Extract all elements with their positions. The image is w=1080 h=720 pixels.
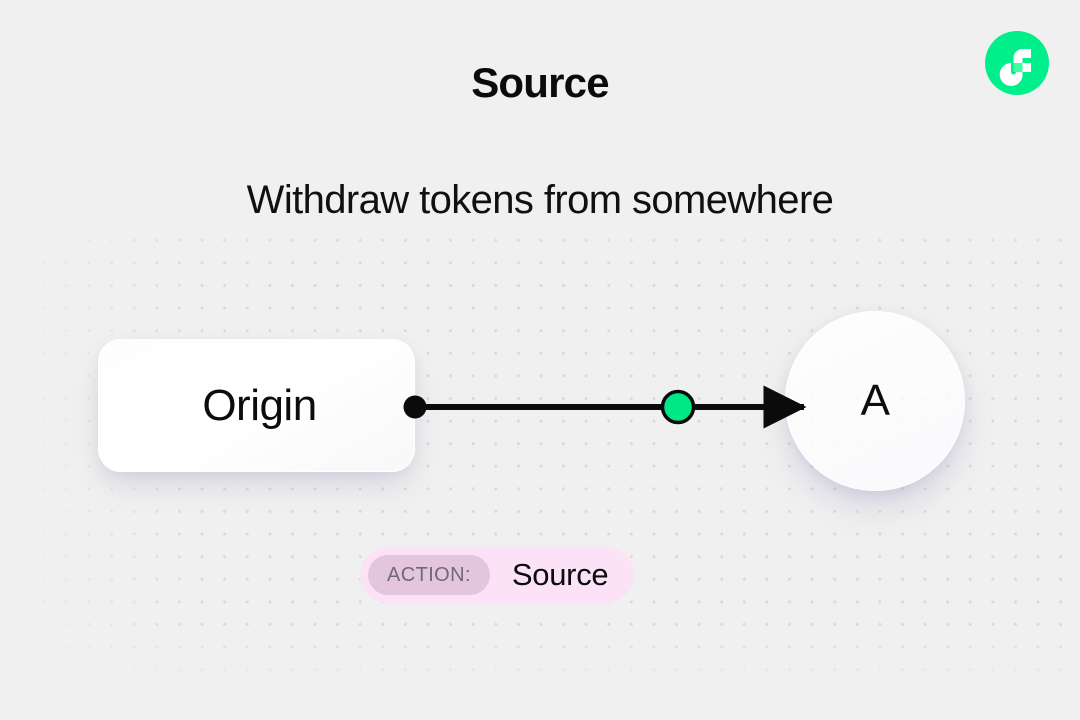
action-badge-value: Source (512, 557, 608, 593)
flow-logo-icon (985, 31, 1049, 95)
node-target-a[interactable]: A (785, 311, 965, 491)
action-badge-key: ACTION: (368, 555, 490, 595)
action-badge[interactable]: ACTION: Source (360, 547, 634, 603)
node-origin[interactable]: Origin (98, 339, 415, 472)
page-subtitle: Withdraw tokens from somewhere (0, 178, 1080, 222)
node-target-a-label: A (861, 376, 890, 426)
page-title: Source (0, 62, 1080, 104)
node-origin-label: Origin (202, 381, 316, 431)
